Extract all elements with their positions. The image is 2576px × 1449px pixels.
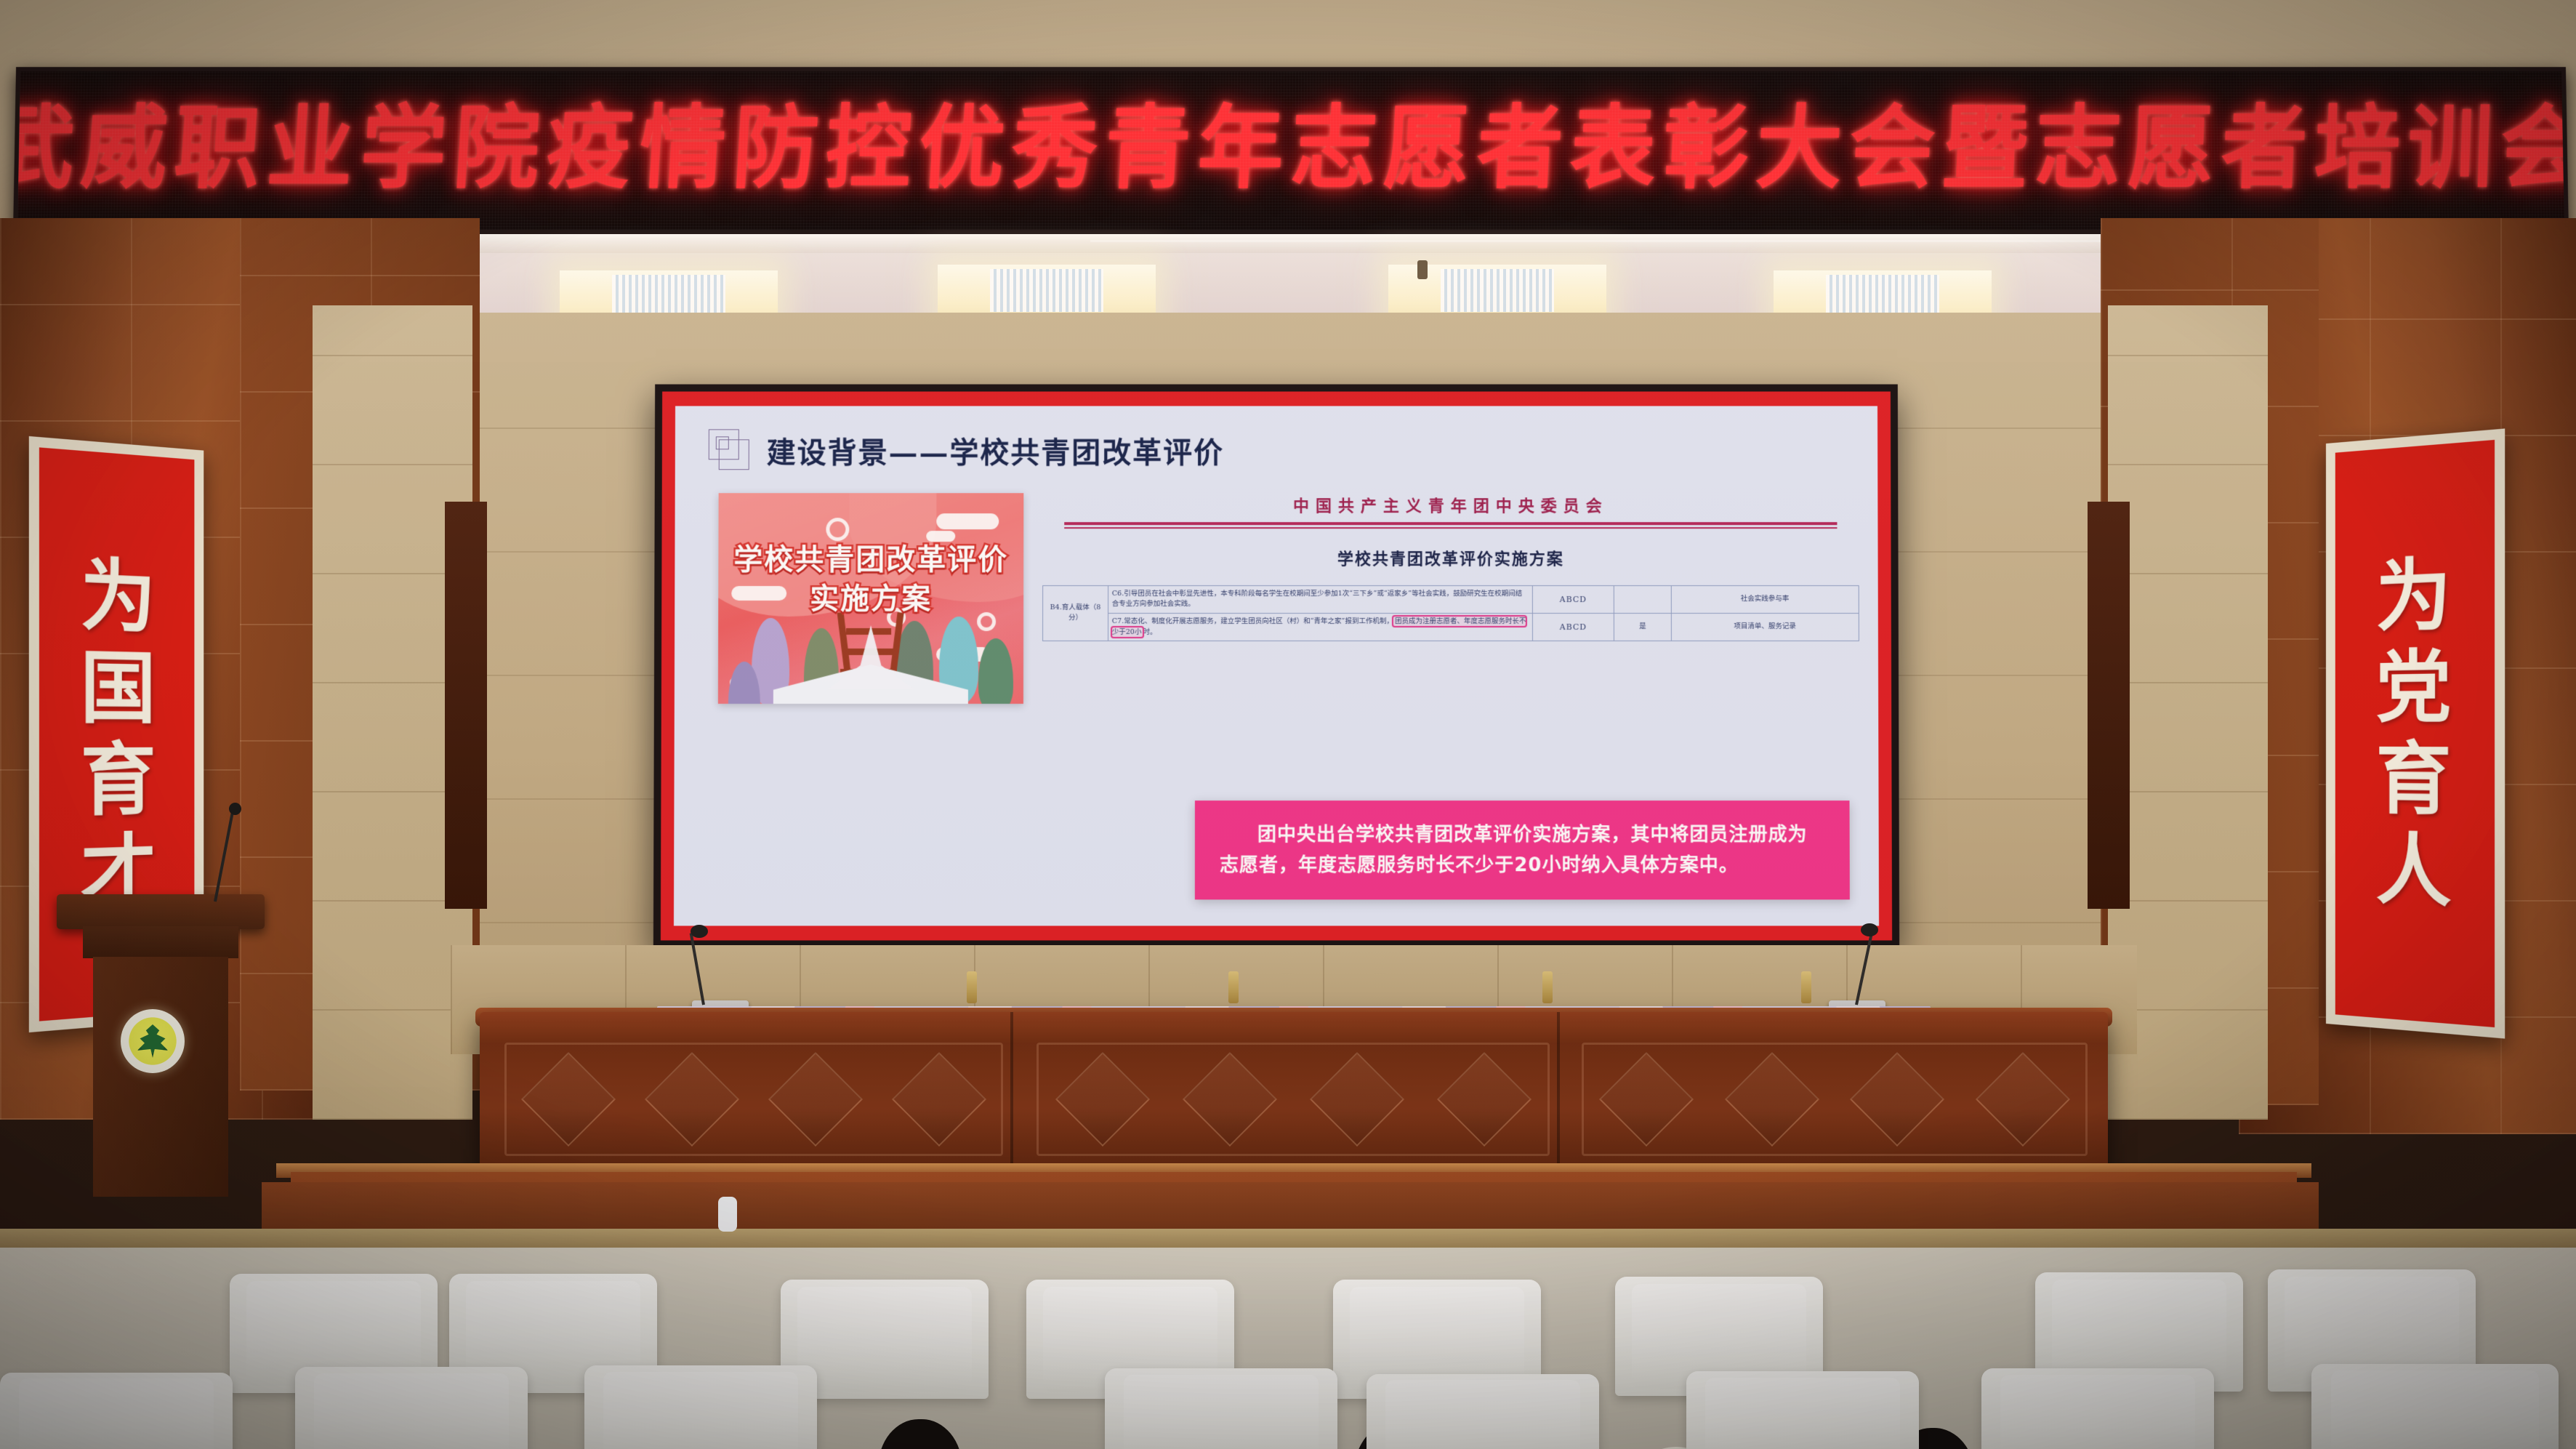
podium-top: [57, 894, 265, 929]
diamond-carving: [1850, 1052, 1944, 1147]
cell-grade: ABCD: [1532, 585, 1614, 613]
table-row: C7.常态化、制度化开展志愿服务，建立学生团员向社区（村）和“青年之家”报到工作…: [1043, 613, 1859, 641]
diamond-carving: [1725, 1052, 1819, 1147]
auditorium-photo: 武威职业学院疫情防控优秀青年志愿者表彰大会暨志愿者培训会 为 国 育 才: [0, 0, 2576, 1449]
audience-chair: [295, 1367, 528, 1449]
audience-chair: [1981, 1368, 2214, 1449]
emblem-tree-glyph: [136, 1024, 169, 1058]
ceiling-cornice: [393, 234, 2210, 253]
dais-table: [480, 1012, 2108, 1187]
diamond-carving: [1976, 1052, 2070, 1147]
audience-chair: [0, 1373, 233, 1449]
dais-panel-right: [1582, 1043, 2088, 1156]
diamond-carving: [768, 1052, 863, 1147]
diamond-carving: [521, 1052, 616, 1147]
right-doorway: [2088, 502, 2130, 909]
ceiling-sensor: [1417, 260, 1428, 279]
audience-chair: [1367, 1374, 1599, 1449]
slide-callout-text: 团中央出台学校共青团改革评价实施方案，其中将团员注册成为志愿者，年度志愿服务时长…: [1220, 819, 1825, 880]
face-mask: [718, 1197, 737, 1232]
diamond-carving: [1599, 1052, 1694, 1147]
light-tube-group: [990, 269, 1103, 313]
scroll-left-char-3: 育: [81, 741, 156, 820]
table-microphone-stub-3: [1542, 971, 1553, 1003]
scroll-left-char-1: 为: [81, 555, 156, 637]
diamond-carving: [1436, 1052, 1531, 1147]
presentation-slide: 建设背景——学校共青团改革评价: [674, 406, 1879, 926]
diamond-carving: [1055, 1052, 1149, 1147]
diamond-carving: [1309, 1052, 1404, 1147]
table-microphone-stub-4: [1801, 971, 1811, 1003]
slide-title-row: 建设背景——学校共青团改革评价: [709, 429, 1859, 471]
document-organization: 中国共产主义青年团中央委员会: [1042, 493, 1859, 516]
table-row: B4.育人载体（8分） C6.引导团员在社会中彰显先进性，本专科阶段每名学生在校…: [1043, 585, 1859, 613]
diamond-carving: [1182, 1052, 1276, 1147]
scroll-right-face: 为 党 育 人: [2335, 440, 2495, 1027]
audience-chair: [2311, 1364, 2559, 1449]
gooseneck-microphone-right-head: [1861, 923, 1878, 936]
scroll-right-char-2: 党: [2376, 648, 2452, 727]
cell-note: 社会实践参与率: [1671, 585, 1859, 613]
dais-seam: [1010, 1012, 1013, 1187]
dais-panel-center: [1037, 1043, 1550, 1156]
cell-grade: ABCD: [1532, 613, 1614, 641]
policy-poster-image: 学校共青团改革评价 实施方案: [718, 493, 1023, 704]
audience-chair: [1686, 1371, 1919, 1449]
cell-description: C6.引导团员在社会中彰显先进性，本专科阶段每名学生在校期间至少参加1次“三下乡…: [1108, 585, 1532, 613]
light-tube-group: [612, 275, 725, 316]
table-microphone-stub-2: [1228, 971, 1239, 1003]
policy-criteria-table: B4.育人载体（8分） C6.引导团员在社会中彰显先进性，本专科阶段每名学生在校…: [1042, 585, 1859, 642]
cell-code: B4.育人载体（8分）: [1043, 585, 1108, 641]
led-banner-text: 武威职业学院疫情防控优秀青年志愿者表彰大会暨志愿者培训会: [13, 103, 2569, 198]
podium-body: [93, 957, 228, 1197]
document-rule-thick: [1064, 522, 1837, 525]
cell-description-tail: 时。: [1143, 628, 1156, 636]
floor-trim: [0, 1229, 2576, 1248]
scroll-left-char-2: 国: [81, 649, 156, 728]
policy-document-scan: 中国共产主义青年团中央委员会 学校共青团改革评价实施方案 B4.育人载体（8分）…: [1042, 493, 1859, 704]
cell-description: C7.常态化、制度化开展志愿服务，建立学生团员向社区（村）和“青年之家”报到工作…: [1108, 613, 1532, 641]
slide-body: 学校共青团改革评价 实施方案 中国共产主义青年团中央委员会 学校共青团改革评价实…: [718, 493, 1859, 704]
overlapping-squares-icon: [709, 429, 751, 471]
gooseneck-microphone-left-head: [691, 925, 708, 938]
cell-note: 项目清单、服务记录: [1671, 613, 1859, 641]
cell-required: 是: [1614, 613, 1671, 641]
slide-red-border: 建设背景——学校共青团改革评价: [661, 392, 1892, 941]
poster-title-line-2: 实施方案: [718, 585, 1023, 614]
diamond-carving: [645, 1052, 739, 1147]
left-doorway: [445, 502, 487, 909]
table-microphone-stub-1: [967, 971, 977, 1003]
dais-panel-left: [504, 1043, 1003, 1156]
podium-neck: [83, 926, 238, 958]
cell-required: [1614, 585, 1671, 613]
speaker-podium: [70, 894, 251, 1207]
light-tube-group: [1441, 269, 1554, 313]
diamond-carving: [892, 1052, 986, 1147]
podium-microphone-head: [229, 803, 241, 815]
wall-scroll-right: 为 党 育 人: [2326, 428, 2505, 1038]
document-subtitle: 学校共青团改革评价实施方案: [1042, 546, 1859, 569]
dais-seam: [1557, 1012, 1560, 1187]
cell-description-head: C7.常态化、制度化开展志愿服务，建立学生团员向社区（村）和“青年之家”报到工作…: [1112, 617, 1393, 625]
poster-title-line-1: 学校共青团改革评价: [718, 545, 1023, 574]
scroll-right-char-4: 人: [2376, 831, 2452, 912]
audience-chair: [584, 1365, 817, 1449]
college-emblem-icon: [121, 1009, 185, 1073]
slide-callout-box: 团中央出台学校共青团改革评价实施方案，其中将团员注册成为志愿者，年度志愿服务时长…: [1195, 800, 1850, 899]
scroll-right-char-3: 育: [2376, 740, 2452, 819]
slide-title: 建设背景——学校共青团改革评价: [767, 429, 1224, 471]
led-scrolling-banner: 武威职业学院疫情防控优秀青年志愿者表彰大会暨志愿者培训会: [13, 67, 2569, 234]
projection-screen: 建设背景——学校共青团改革评价: [653, 385, 1899, 948]
light-tube-group: [1826, 275, 1939, 316]
scroll-right-char-1: 为: [2376, 555, 2452, 636]
audience-chair: [1105, 1368, 1337, 1449]
document-rule-thin: [1064, 527, 1837, 528]
